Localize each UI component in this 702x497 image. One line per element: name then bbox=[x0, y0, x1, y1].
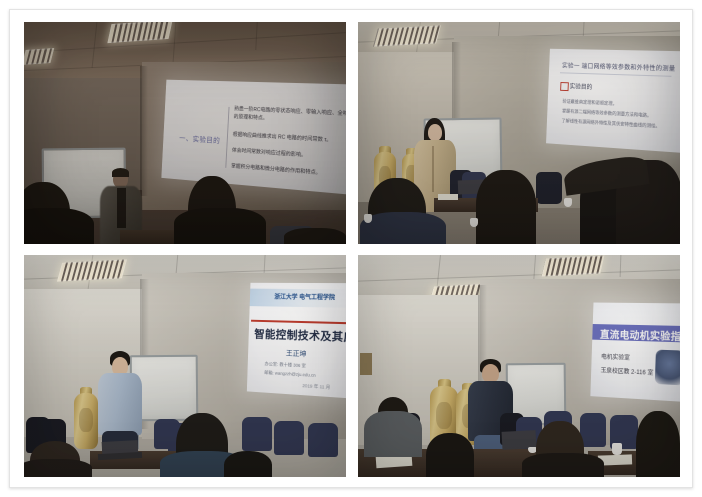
projection-screen: 浙江大学 电气工程学院 智能控制技术及其应用 王正坤 办公室: 教十楼 306 … bbox=[247, 283, 346, 399]
slide-section-marker bbox=[560, 82, 569, 91]
wall-corner-shadow bbox=[140, 66, 148, 196]
cup bbox=[470, 218, 478, 227]
audience-member-seated bbox=[364, 411, 422, 457]
ceiling-light-panel bbox=[57, 259, 127, 281]
photo-bottom-right[interactable]: 直流电动机实验指导 电机实验室 玉泉校区教 2-116 室 bbox=[358, 255, 680, 477]
audience-member bbox=[24, 208, 94, 244]
audience-member bbox=[426, 433, 474, 477]
ceiling-light-panel bbox=[541, 255, 604, 276]
chair bbox=[274, 421, 304, 455]
cup bbox=[612, 443, 622, 455]
presenter-body bbox=[98, 373, 142, 435]
audience-member bbox=[522, 453, 604, 477]
audience-member bbox=[24, 459, 92, 477]
audience-member bbox=[636, 411, 680, 477]
photo-grid: 一、实验目的 熟悉一阶RC电路的零状态响应、零输入响应、全响应的原理和特点。 根… bbox=[24, 22, 680, 477]
photo-top-left[interactable]: 一、实验目的 熟悉一阶RC电路的零状态响应、零输入响应、全响应的原理和特点。 根… bbox=[24, 22, 346, 244]
collage-root: 一、实验目的 熟悉一阶RC电路的零状态响应、零输入响应、全响应的原理和特点。 根… bbox=[0, 0, 702, 497]
audience-member bbox=[360, 212, 446, 244]
audience-member bbox=[476, 170, 536, 244]
motor-illustration bbox=[655, 350, 680, 386]
cup bbox=[564, 198, 572, 207]
chair bbox=[242, 417, 272, 451]
ceiling-light-panel bbox=[24, 48, 54, 65]
chair bbox=[536, 172, 562, 204]
presenter-coat-detail bbox=[432, 146, 434, 192]
presenter-hair bbox=[112, 168, 129, 177]
projection-screen: 直流电动机实验指导 电机实验室 玉泉校区教 2-116 室 bbox=[590, 303, 680, 402]
chair bbox=[308, 423, 338, 457]
audience-member bbox=[224, 451, 272, 477]
wall-frame bbox=[360, 353, 372, 375]
presenter-shirt bbox=[117, 188, 126, 228]
slide-institution: 浙江大学 电气工程学院 bbox=[274, 292, 335, 302]
photo-top-right[interactable]: 实验一 端口网络等效参数和外特性的测量 实验目的 验证戴维南定理和诺顿定理。 掌… bbox=[358, 22, 680, 244]
slide-title: 直流电动机实验指导 bbox=[600, 326, 680, 344]
ceramic-vase bbox=[74, 393, 98, 449]
ceiling-light-panel bbox=[373, 25, 441, 46]
projection-screen: 实验一 端口网络等效参数和外特性的测量 实验目的 验证戴维南定理和诺顿定理。 掌… bbox=[546, 49, 680, 153]
slide-line: 电机实验室 bbox=[601, 352, 630, 362]
collage-frame: 一、实验目的 熟悉一阶RC电路的零状态响应、零输入响应、全响应的原理和特点。 根… bbox=[9, 9, 693, 488]
audience-member bbox=[174, 208, 266, 244]
slide-speaker: 王正坤 bbox=[286, 348, 307, 359]
projection-screen: 一、实验目的 熟悉一阶RC电路的零状态响应、零输入响应、全响应的原理和特点。 根… bbox=[161, 80, 346, 195]
cup bbox=[364, 214, 372, 223]
presenter-head bbox=[428, 124, 442, 141]
chair bbox=[580, 413, 606, 447]
slide-section-label: 实验目的 bbox=[569, 81, 592, 91]
audience-member bbox=[284, 228, 346, 244]
paper bbox=[438, 194, 458, 200]
photo-bottom-left[interactable]: 浙江大学 电气工程学院 智能控制技术及其应用 王正坤 办公室: 教十楼 306 … bbox=[24, 255, 346, 477]
